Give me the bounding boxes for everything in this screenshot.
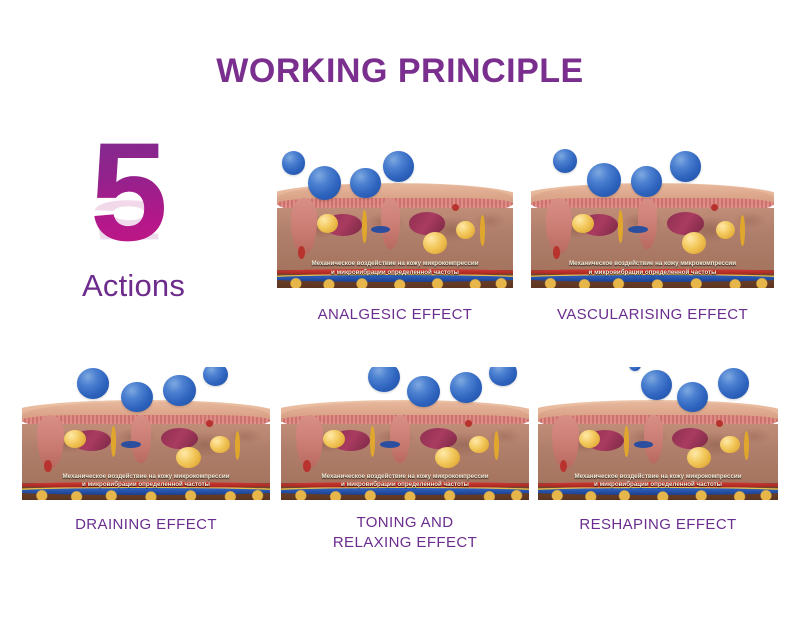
panel-analgesic[interactable]: Механическое воздействие на кожу микроко… bbox=[277, 148, 513, 288]
caption-analgesic: ANALGESIC EFFECT bbox=[277, 305, 513, 325]
microsphere-icon bbox=[383, 151, 414, 182]
caption-reshaping: RESHAPING EFFECT bbox=[538, 515, 778, 535]
microsphere-icon bbox=[631, 166, 663, 197]
count-number: 5 bbox=[90, 122, 168, 262]
caption-vascularising: VASCULARISING EFFECT bbox=[531, 305, 774, 325]
microsphere-icon bbox=[718, 368, 749, 399]
skin-cross-section-illustration: Механическое воздействие на кожу микроко… bbox=[277, 148, 513, 288]
microsphere-icon bbox=[587, 163, 621, 197]
microsphere-icon bbox=[282, 151, 306, 175]
panel-vascularising[interactable]: Механическое воздействие на кожу микроко… bbox=[531, 148, 774, 288]
count-block: 5 5 Actions bbox=[70, 140, 250, 320]
caption-line-2: RELAXING EFFECT bbox=[281, 533, 529, 553]
panel-draining[interactable]: Механическое воздействие на кожу микроко… bbox=[22, 367, 270, 500]
caption-toning-relaxing: TONING AND RELAXING EFFECT bbox=[281, 513, 529, 554]
panel-toning-relaxing[interactable]: Механическое воздействие на кожу микроко… bbox=[281, 367, 529, 500]
count-label: Actions bbox=[82, 268, 185, 304]
microsphere-icon bbox=[308, 166, 341, 200]
microsphere-icon bbox=[670, 151, 702, 182]
microsphere-icon bbox=[407, 376, 439, 407]
microsphere-icon bbox=[350, 168, 381, 199]
panel-reshaping[interactable]: Механическое воздействие на кожу микроко… bbox=[538, 367, 778, 500]
microsphere-icon bbox=[450, 372, 482, 403]
microsphere-icon bbox=[203, 367, 228, 386]
skin-cross-section-illustration: Механическое воздействие на кожу микроко… bbox=[531, 148, 774, 288]
skin-cross-section-illustration: Механическое воздействие на кожу микроко… bbox=[22, 367, 270, 500]
caption-line-1: TONING AND bbox=[281, 513, 529, 533]
page-title: WORKING PRINCIPLE bbox=[0, 52, 800, 91]
skin-cross-section-illustration: Механическое воздействие на кожу микроко… bbox=[281, 367, 529, 500]
skin-cross-section-illustration: Механическое воздействие на кожу микроко… bbox=[538, 367, 778, 500]
microsphere-icon bbox=[77, 368, 109, 399]
caption-draining: DRAINING EFFECT bbox=[22, 515, 270, 535]
microsphere-icon bbox=[163, 375, 195, 406]
